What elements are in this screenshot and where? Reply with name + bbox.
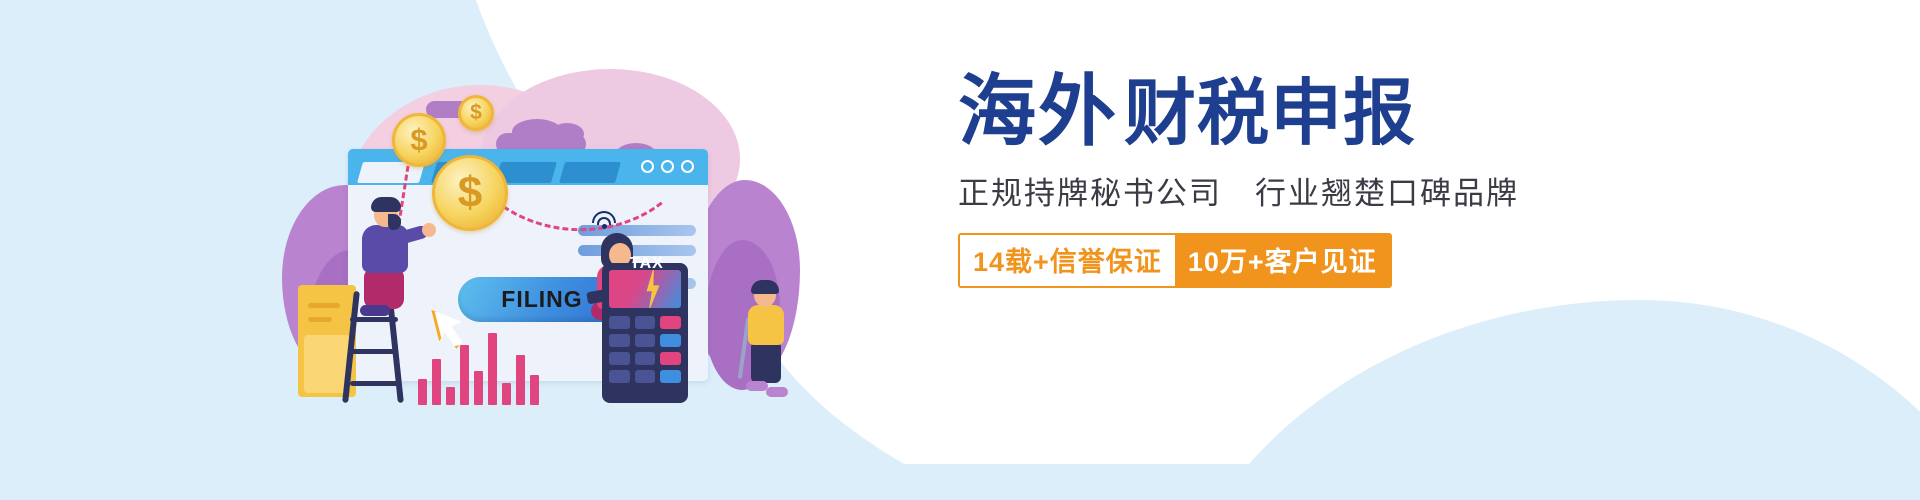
calc-key — [609, 352, 630, 365]
headline-secondary: 财税申报 — [1124, 78, 1416, 150]
person3-legs — [751, 341, 781, 383]
ladder-rung-1 — [350, 317, 398, 322]
calc-key — [660, 334, 681, 347]
person-hand — [422, 223, 436, 237]
chart-bar — [446, 387, 455, 405]
calc-key — [609, 316, 630, 329]
chart-bar — [516, 355, 525, 405]
chart-bar — [474, 371, 483, 405]
chart-bar — [530, 375, 539, 405]
text-content: 海外 财税申报 正规持牌秘书公司 行业翘楚口碑品牌 14载+信誉保证 10万+客… — [958, 72, 1578, 288]
calc-key — [635, 352, 656, 365]
person3-shoe-left — [746, 381, 768, 391]
chart-bar — [460, 345, 469, 405]
calc-key — [635, 370, 656, 383]
calc-key — [660, 370, 681, 383]
person-legs — [364, 269, 404, 309]
person3-hair — [751, 280, 779, 294]
calc-key — [635, 316, 656, 329]
headline: 海外 财税申报 — [958, 72, 1578, 150]
wifi-icon — [592, 211, 618, 233]
person3-shoe-right — [766, 387, 788, 397]
person-standing-right — [740, 283, 794, 401]
ladder-rung-3 — [350, 381, 398, 386]
tax-label: TAX — [630, 255, 664, 273]
chart-bar — [418, 379, 427, 405]
person-shoe — [360, 305, 390, 316]
bar-chart-graphic — [418, 331, 542, 405]
person3-body — [748, 305, 784, 345]
illustration: FILING $ $ $ — [300, 55, 760, 405]
chart-bar — [502, 383, 511, 405]
folder-line-2 — [308, 317, 332, 322]
subtitle: 正规持牌秘书公司 行业翘楚口碑品牌 — [958, 168, 1578, 213]
lightning-bolt-icon — [643, 270, 663, 308]
wifi-dot — [602, 224, 607, 229]
badge-clients: 10万+客户见证 — [1175, 235, 1390, 286]
ladder-rung-2 — [350, 349, 398, 354]
coin-icon-small: $ — [458, 95, 494, 131]
calc-key — [609, 370, 630, 383]
coin-icon-medium: $ — [392, 113, 446, 167]
chart-bar — [488, 333, 497, 405]
chart-bar — [432, 359, 441, 405]
calculator-screen — [609, 270, 681, 308]
promo-banner: FILING $ $ $ — [0, 0, 1920, 500]
calc-key — [660, 316, 681, 329]
folder-line-1 — [308, 303, 340, 308]
calc-key — [635, 334, 656, 347]
calc-key — [660, 352, 681, 365]
coin-icon-large: $ — [432, 155, 508, 231]
calculator-keys — [609, 316, 681, 383]
headline-primary: 海外 — [958, 72, 1118, 150]
calculator-graphic — [602, 263, 688, 403]
person-hair — [371, 197, 401, 212]
person-on-ladder — [352, 197, 428, 317]
calc-key — [609, 334, 630, 347]
background-blue-strip — [0, 464, 1920, 500]
badge-group: 14载+信誉保证 10万+客户见证 — [958, 233, 1392, 288]
badge-years: 14载+信誉保证 — [960, 235, 1175, 286]
